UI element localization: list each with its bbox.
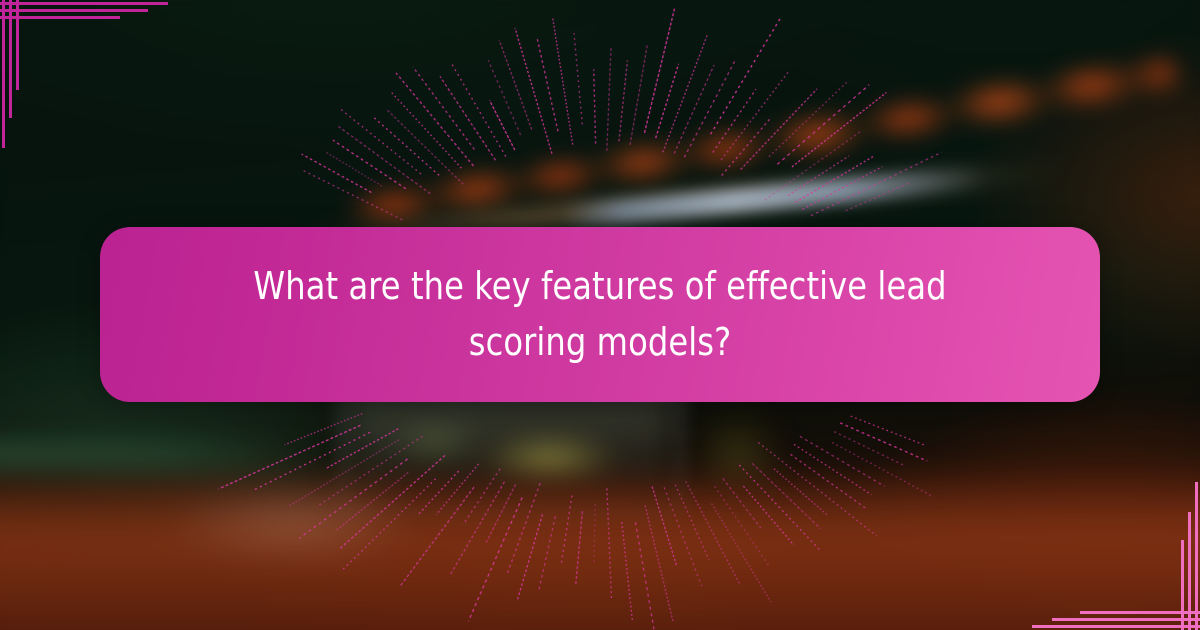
burst-ray [400, 487, 474, 587]
burst-ray [488, 60, 520, 135]
burst-ray [675, 485, 709, 560]
burst-ray [396, 73, 474, 166]
burst-ray [794, 444, 872, 495]
burst-ray [712, 504, 772, 603]
burst-ray [594, 504, 596, 564]
burst-ray [449, 482, 504, 577]
burst-ray [664, 487, 702, 586]
burst-ray [765, 131, 862, 201]
burst-ray [499, 40, 532, 130]
burst-ray [486, 484, 516, 543]
burst-ray [792, 93, 887, 167]
burst-ray [452, 64, 506, 156]
burst-ray [811, 152, 942, 216]
burst-ray [219, 425, 361, 489]
burst-ray [418, 471, 459, 515]
burst-ray [301, 169, 403, 219]
burst-ray [635, 522, 658, 630]
question-line-1: What are the key features of effective l… [253, 264, 946, 308]
burst-ray [607, 48, 611, 151]
burst-ray [468, 497, 522, 621]
corner-ornament-top-left [0, 0, 200, 200]
burst-ray [254, 432, 370, 490]
corner-line-v-5 [1181, 540, 1184, 630]
burst-ray [299, 459, 407, 538]
corner-ornament-bottom-right [1000, 430, 1200, 630]
burst-ray [607, 488, 612, 599]
burst-ray [325, 151, 382, 186]
burst-ray [619, 60, 628, 141]
burst-ray [289, 440, 399, 506]
corner-line-v-4 [9, 0, 12, 118]
burst-ray [741, 89, 817, 170]
burst-ray [574, 33, 582, 124]
corner-line-h-0 [0, 2, 168, 5]
burst-ray [832, 443, 934, 498]
burst-ray [317, 436, 423, 507]
burst-ray [622, 522, 633, 621]
burst-ray [769, 81, 849, 157]
burst-ray [686, 481, 741, 585]
share-card-canvas: What are the key features of effective l… [0, 0, 1200, 630]
burst-ray [539, 516, 556, 591]
burst-ray [440, 76, 496, 160]
burst-ray [594, 69, 596, 143]
burst-ray [652, 487, 677, 567]
burst-ray [645, 505, 673, 621]
question-line-2: scoring models? [469, 320, 731, 364]
burst-ray [777, 85, 869, 165]
burst-ray [711, 16, 782, 134]
corner-line-v-4 [1188, 512, 1191, 630]
burst-ray [739, 465, 819, 550]
burst-ray [387, 110, 463, 184]
burst-ray [553, 18, 573, 144]
burst-ray [333, 140, 406, 189]
burst-ray [373, 116, 440, 175]
burst-ray [790, 454, 865, 508]
burst-ray [342, 479, 436, 571]
burst-ray [834, 432, 904, 466]
burst-ray [413, 67, 475, 149]
corner-line-v-3 [1195, 482, 1198, 630]
burst-ray [713, 89, 756, 152]
burst-ray [674, 65, 714, 153]
burst-ray [537, 37, 558, 132]
burst-ray [335, 473, 408, 532]
burst-ray [507, 483, 540, 573]
burst-ray [463, 469, 500, 525]
burst-ray [302, 154, 372, 192]
corner-line-h-0 [1032, 625, 1200, 628]
corner-line-h-1 [0, 9, 148, 12]
corner-line-v-5 [16, 0, 19, 90]
burst-ray [800, 436, 885, 486]
burst-ray [796, 156, 874, 202]
question-card: What are the key features of effective l… [100, 227, 1100, 402]
burst-ray [645, 9, 675, 133]
burst-ray [391, 92, 462, 169]
burst-ray [851, 416, 926, 445]
corner-line-v-3 [2, 0, 5, 148]
corner-line-h-1 [1052, 618, 1200, 621]
burst-ray [561, 496, 572, 566]
burst-ray [490, 100, 515, 150]
question-text: What are the key features of effective l… [186, 259, 1013, 371]
burst-ray [752, 463, 821, 528]
burst-ray [723, 478, 761, 528]
burst-ray [576, 511, 583, 586]
burst-ray [803, 167, 883, 210]
burst-ray [339, 127, 431, 194]
burst-ray [518, 514, 543, 599]
burst-ray [339, 108, 421, 174]
burst-ray [845, 183, 909, 211]
